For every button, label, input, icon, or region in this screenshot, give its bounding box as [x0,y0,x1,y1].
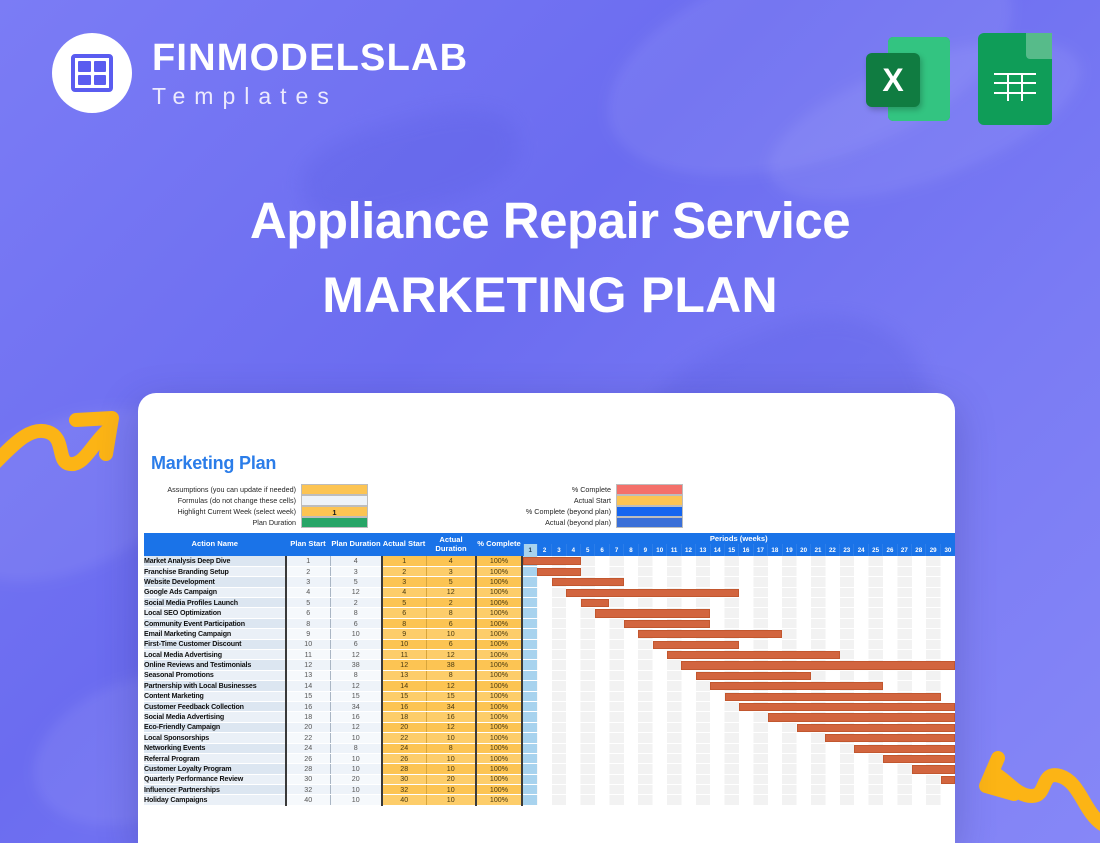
table-row[interactable]: Influencer Partnerships32103210100% [144,785,955,795]
gantt-bar[interactable] [710,682,883,690]
cell-plan-start[interactable]: 5 [286,598,330,608]
legend-item: Formulas (do not change these cells) [151,495,368,506]
cell-actual-duration[interactable]: 34 [426,701,476,711]
legend-label: Actual Start [476,495,616,506]
cell-actual-duration[interactable]: 10 [426,733,476,743]
gantt-bar-cell [522,795,955,805]
gantt-bar[interactable] [854,745,955,753]
week-header-15[interactable]: 15 [724,544,738,556]
table-row[interactable]: Local Sponsorships22102210100% [144,733,955,743]
table-row[interactable]: Referral Program26102610100% [144,753,955,763]
current-week-highlight [523,775,537,784]
cell-pct-complete[interactable]: 100% [476,795,522,805]
cell-plan-start[interactable]: 10 [286,639,330,649]
legend-left-column: Assumptions (you can update if needed)Fo… [151,484,368,528]
cell-actual-start[interactable]: 3 [382,577,426,587]
gantt-bar[interactable] [912,765,955,773]
cell-actual-start[interactable]: 15 [382,691,426,701]
cell-actual-duration[interactable]: 38 [426,660,476,670]
cell-plan-start[interactable]: 16 [286,701,330,711]
table-row[interactable]: Customer Loyalty Program28102810100% [144,764,955,774]
cell-plan-duration[interactable]: 10 [330,795,382,805]
cell-actual-duration[interactable]: 12 [426,587,476,597]
legend-swatch [301,495,368,506]
cell-action-name[interactable]: Seasonal Promotions [144,670,286,680]
cell-action-name[interactable]: Community Event Participation [144,618,286,628]
cell-plan-duration[interactable]: 5 [330,577,382,587]
cell-pct-complete[interactable]: 100% [476,660,522,670]
week-gridlines [523,640,955,649]
cell-pct-complete[interactable]: 100% [476,774,522,784]
cell-action-name[interactable]: Influencer Partnerships [144,785,286,795]
week-header-9[interactable]: 9 [638,544,652,556]
table-row[interactable]: Seasonal Promotions138138100% [144,670,955,680]
table-row[interactable]: Eco-Friendly Campaign20122012100% [144,722,955,732]
table-row[interactable]: Email Marketing Campaign910910100% [144,629,955,639]
cell-actual-duration[interactable]: 10 [426,795,476,805]
cell-plan-start[interactable]: 32 [286,785,330,795]
cell-plan-start[interactable]: 9 [286,629,330,639]
sheet-title: Marketing Plan [151,453,955,474]
cell-plan-start[interactable]: 2 [286,566,330,576]
current-week-highlight [523,608,537,617]
cell-plan-start[interactable]: 8 [286,618,330,628]
excel-x-glyph: X [866,53,920,107]
cell-actual-start[interactable]: 24 [382,743,426,753]
table-row[interactable]: Holiday Campaigns40104010100% [144,795,955,805]
cell-plan-start[interactable]: 26 [286,753,330,763]
current-week-highlight [523,567,537,576]
cell-actual-duration[interactable]: 10 [426,753,476,763]
gantt-bar-cell [522,608,955,618]
gantt-bar-cell [522,753,955,763]
week-header-5[interactable]: 5 [581,544,595,556]
cell-plan-duration[interactable]: 10 [330,733,382,743]
legend-swatch [616,517,683,528]
cell-plan-start[interactable]: 28 [286,764,330,774]
current-week-highlight [523,795,537,804]
cell-plan-duration[interactable]: 10 [330,785,382,795]
cell-action-name[interactable]: Partnership with Local Businesses [144,681,286,691]
cell-plan-duration[interactable]: 15 [330,691,382,701]
table-row[interactable]: Community Event Participation8686100% [144,618,955,628]
cell-actual-start[interactable]: 2 [382,566,426,576]
cell-actual-start[interactable]: 8 [382,618,426,628]
legend-item: % Complete [476,484,683,495]
week-header-7[interactable]: 7 [609,544,623,556]
cell-actual-duration[interactable]: 6 [426,618,476,628]
cell-plan-start[interactable]: 13 [286,670,330,680]
card-footer-band [138,809,955,843]
col-pct-complete[interactable]: % Complete [476,533,522,556]
gantt-bar[interactable] [523,557,581,565]
cell-actual-start[interactable]: 13 [382,670,426,680]
week-header-29[interactable]: 29 [926,544,940,556]
cell-actual-start[interactable]: 18 [382,712,426,722]
gantt-bar-cell [522,774,955,784]
gantt-bar[interactable] [653,641,739,649]
gantt-bar[interactable] [581,599,610,607]
legend-label: % Complete [476,484,616,495]
cell-action-name[interactable]: Local Media Advertising [144,650,286,660]
cell-actual-duration[interactable]: 20 [426,774,476,784]
week-header-24[interactable]: 24 [854,544,868,556]
table-row[interactable]: First-Time Customer Discount106106100% [144,639,955,649]
cell-action-name[interactable]: First-Time Customer Discount [144,639,286,649]
cell-plan-duration[interactable]: 3 [330,566,382,576]
cell-action-name[interactable]: Eco-Friendly Campaign [144,722,286,732]
cell-pct-complete[interactable]: 100% [476,650,522,660]
current-week-highlight [523,702,537,711]
cell-actual-duration[interactable]: 5 [426,577,476,587]
cell-actual-start[interactable]: 6 [382,608,426,618]
gantt-bar[interactable] [667,651,840,659]
week-header-3[interactable]: 3 [552,544,566,556]
cell-actual-start[interactable]: 30 [382,774,426,784]
cell-pct-complete[interactable]: 100% [476,598,522,608]
headline-line-1: Appliance Repair Service [0,192,1100,251]
cell-action-name[interactable]: Local Sponsorships [144,733,286,743]
col-plan-duration[interactable]: Plan Duration [330,533,382,556]
cell-plan-duration[interactable]: 4 [330,556,382,566]
gantt-bar[interactable] [681,661,955,669]
gantt-bar[interactable] [624,620,710,628]
cell-plan-start[interactable]: 20 [286,722,330,732]
week-header-16[interactable]: 16 [739,544,753,556]
legend-label: % Complete (beyond plan) [476,506,616,517]
gantt-bar-cell [522,577,955,587]
legend-item: Actual (beyond plan) [476,517,683,528]
cell-actual-duration[interactable]: 6 [426,639,476,649]
cell-plan-start[interactable]: 18 [286,712,330,722]
cell-action-name[interactable]: Online Reviews and Testimonials [144,660,286,670]
legend-item: Actual Start [476,495,683,506]
cell-actual-start[interactable]: 1 [382,556,426,566]
week-header-11[interactable]: 11 [667,544,681,556]
gantt-bar[interactable] [696,672,811,680]
week-header-container: 1234567891011121314151617181920212223242… [522,544,955,556]
legend-label: Assumptions (you can update if needed) [151,484,301,495]
cell-action-name[interactable]: Market Analysis Deep Dive [144,556,286,566]
squiggly-arrow-up-right-icon [0,404,122,490]
cell-plan-duration[interactable]: 12 [330,681,382,691]
week-header-10[interactable]: 10 [653,544,667,556]
current-week-highlight [523,692,537,701]
cell-actual-duration[interactable]: 4 [426,556,476,566]
week-gridlines [523,608,955,617]
table-row[interactable]: Website Development3535100% [144,577,955,587]
gantt-bar[interactable] [537,568,580,576]
gantt-bar[interactable] [566,589,739,597]
gantt-bar[interactable] [595,609,710,617]
cell-actual-duration[interactable]: 8 [426,743,476,753]
legend-item: % Complete (beyond plan) [476,506,683,517]
cell-action-name[interactable]: Local SEO Optimization [144,608,286,618]
google-sheets-icon[interactable] [978,33,1052,125]
week-header-2[interactable]: 2 [537,544,551,556]
gantt-bar-cell [522,660,955,670]
cell-actual-start[interactable]: 11 [382,650,426,660]
cell-plan-duration[interactable]: 2 [330,598,382,608]
cell-action-name[interactable]: Franchise Branding Setup [144,566,286,576]
table-row[interactable]: Online Reviews and Testimonials123812381… [144,660,955,670]
cell-actual-duration[interactable]: 8 [426,608,476,618]
week-header-22[interactable]: 22 [825,544,839,556]
grid-logo-icon [52,33,132,113]
cell-actual-start[interactable]: 16 [382,701,426,711]
table-row[interactable]: Market Analysis Deep Dive1414100% [144,556,955,566]
periods-header: Periods (weeks) [522,533,955,544]
current-week-highlight [523,577,537,586]
cell-actual-duration[interactable]: 10 [426,785,476,795]
cell-actual-duration[interactable]: 10 [426,629,476,639]
week-header-25[interactable]: 25 [868,544,882,556]
current-week-highlight [523,754,537,763]
cell-pct-complete[interactable]: 100% [476,608,522,618]
legend-item: Assumptions (you can update if needed) [151,484,368,495]
cell-plan-duration[interactable]: 34 [330,701,382,711]
gantt-bar-cell [522,670,955,680]
cell-action-name[interactable]: Social Media Advertising [144,712,286,722]
cell-plan-duration[interactable]: 10 [330,764,382,774]
gantt-bar-cell [522,650,955,660]
table-row[interactable]: Social Media Advertising18161816100% [144,712,955,722]
cell-pct-complete[interactable]: 100% [476,556,522,566]
cell-actual-duration[interactable]: 12 [426,650,476,660]
week-header-13[interactable]: 13 [696,544,710,556]
cell-plan-start[interactable]: 3 [286,577,330,587]
cell-plan-duration[interactable]: 12 [330,650,382,660]
cell-pct-complete[interactable]: 100% [476,722,522,732]
cell-pct-complete[interactable]: 100% [476,733,522,743]
marketing-plan-sheet: Marketing Plan Assumptions (you can upda… [144,453,955,806]
gantt-bar[interactable] [883,755,955,763]
gantt-bar[interactable] [941,776,955,784]
week-header-30[interactable]: 30 [940,544,955,556]
cell-action-name[interactable]: Quarterly Performance Review [144,774,286,784]
cell-actual-start[interactable]: 10 [382,639,426,649]
cell-pct-complete[interactable]: 100% [476,764,522,774]
cell-plan-start[interactable]: 22 [286,733,330,743]
cell-actual-duration[interactable]: 12 [426,681,476,691]
cell-plan-start[interactable]: 40 [286,795,330,805]
cell-plan-start[interactable]: 1 [286,556,330,566]
week-header-6[interactable]: 6 [595,544,609,556]
gantt-bar[interactable] [768,713,955,721]
week-header-18[interactable]: 18 [768,544,782,556]
table-row[interactable]: Networking Events248248100% [144,743,955,753]
gantt-bar-cell [522,639,955,649]
cell-plan-duration[interactable]: 8 [330,608,382,618]
cell-plan-start[interactable]: 12 [286,660,330,670]
current-week-highlight [523,588,537,597]
cell-plan-start[interactable]: 15 [286,691,330,701]
current-week-highlight [523,629,537,638]
cell-plan-duration[interactable]: 8 [330,670,382,680]
cell-plan-duration[interactable]: 38 [330,660,382,670]
legend: Assumptions (you can update if needed)Fo… [151,484,955,528]
cell-pct-complete[interactable]: 100% [476,681,522,691]
gantt-bar[interactable] [739,703,955,711]
table-row[interactable]: Quarterly Performance Review30203020100% [144,774,955,784]
cell-pct-complete[interactable]: 100% [476,577,522,587]
cell-action-name[interactable]: Customer Loyalty Program [144,764,286,774]
table-row[interactable]: Google Ads Campaign412412100% [144,587,955,597]
cell-plan-duration[interactable]: 20 [330,774,382,784]
cell-plan-duration[interactable]: 10 [330,753,382,763]
cell-actual-duration[interactable]: 15 [426,691,476,701]
cell-plan-duration[interactable]: 6 [330,618,382,628]
cell-plan-start[interactable]: 14 [286,681,330,691]
cell-actual-start[interactable]: 22 [382,733,426,743]
brand-logo[interactable]: FINMODELSLAB Templates [52,33,468,113]
table-row[interactable]: Content Marketing15151515100% [144,691,955,701]
week-header-17[interactable]: 17 [753,544,767,556]
current-week-highlight [523,619,537,628]
headline-line-2: MARKETING PLAN [0,267,1100,325]
gantt-bar[interactable] [725,693,941,701]
gantt-bar-cell [522,556,955,566]
cell-actual-duration[interactable]: 3 [426,566,476,576]
week-gridlines [523,764,955,773]
cell-action-name[interactable]: Customer Feedback Collection [144,701,286,711]
week-header-27[interactable]: 27 [897,544,911,556]
cell-action-name[interactable]: Social Media Profiles Launch [144,598,286,608]
legend-right-column: % CompleteActual Start% Complete (beyond… [476,484,683,528]
cell-pct-complete[interactable]: 100% [476,691,522,701]
table-row[interactable]: Social Media Profiles Launch5252100% [144,598,955,608]
cell-actual-start[interactable]: 14 [382,681,426,691]
brand-tagline: Templates [152,85,468,108]
week-header-4[interactable]: 4 [566,544,580,556]
cell-pct-complete[interactable]: 100% [476,566,522,576]
cell-action-name[interactable]: Email Marketing Campaign [144,629,286,639]
gantt-bar[interactable] [825,734,955,742]
table-row[interactable]: Partnership with Local Businesses1412141… [144,681,955,691]
legend-swatch [616,484,683,495]
cell-pct-complete[interactable]: 100% [476,743,522,753]
gantt-bar-cell [522,764,955,774]
week-header-19[interactable]: 19 [782,544,796,556]
week-header-21[interactable]: 21 [811,544,825,556]
col-actual-duration[interactable]: Actual Duration [426,533,476,556]
cell-action-name[interactable]: Website Development [144,577,286,587]
week-gridlines [523,619,955,628]
week-number-row: 1234567891011121314151617181920212223242… [523,544,955,556]
cell-plan-duration[interactable]: 10 [330,629,382,639]
week-gridlines [523,775,955,784]
week-header-20[interactable]: 20 [796,544,810,556]
cell-plan-duration[interactable]: 8 [330,743,382,753]
cell-plan-duration[interactable]: 6 [330,639,382,649]
week-gridlines [523,795,955,804]
current-week-highlight [523,681,537,690]
spreadsheet-card: Marketing Plan Assumptions (you can upda… [138,393,955,843]
cell-pct-complete[interactable]: 100% [476,587,522,597]
week-header-8[interactable]: 8 [624,544,638,556]
cell-actual-start[interactable]: 26 [382,753,426,763]
current-week-highlight [523,744,537,753]
week-header-23[interactable]: 23 [840,544,854,556]
cell-plan-start[interactable]: 6 [286,608,330,618]
cell-actual-start[interactable]: 20 [382,722,426,732]
cell-pct-complete[interactable]: 100% [476,753,522,763]
week-header-28[interactable]: 28 [912,544,926,556]
col-action-name[interactable]: Action Name [144,533,286,556]
week-header-1[interactable]: 1 [523,544,537,556]
cell-actual-duration[interactable]: 12 [426,722,476,732]
cell-actual-start[interactable]: 9 [382,629,426,639]
cell-actual-start[interactable]: 40 [382,795,426,805]
gantt-bar[interactable] [638,630,782,638]
cell-pct-complete[interactable]: 100% [476,618,522,628]
cell-actual-start[interactable]: 32 [382,785,426,795]
gantt-bar-cell [522,785,955,795]
cell-plan-duration[interactable]: 16 [330,712,382,722]
gantt-bar-cell [522,701,955,711]
legend-label: Highlight Current Week (select week) [151,506,301,517]
cell-plan-start[interactable]: 30 [286,774,330,784]
table-row[interactable]: Local Media Advertising11121112100% [144,650,955,660]
cell-action-name[interactable]: Content Marketing [144,691,286,701]
cell-action-name[interactable]: Holiday Campaigns [144,795,286,805]
excel-icon[interactable]: X [862,33,954,125]
cell-plan-start[interactable]: 4 [286,587,330,597]
cell-actual-duration[interactable]: 8 [426,670,476,680]
cell-pct-complete[interactable]: 100% [476,785,522,795]
cell-actual-start[interactable]: 4 [382,587,426,597]
table-row[interactable]: Franchise Branding Setup2323100% [144,566,955,576]
current-week-highlight [523,712,537,721]
cell-action-name[interactable]: Referral Program [144,753,286,763]
current-week-highlight [523,650,537,659]
cell-actual-duration[interactable]: 10 [426,764,476,774]
week-gridlines [523,556,955,566]
cell-plan-duration[interactable]: 12 [330,722,382,732]
week-gridlines [523,785,955,794]
cell-pct-complete[interactable]: 100% [476,670,522,680]
cell-action-name[interactable]: Networking Events [144,743,286,753]
cell-action-name[interactable]: Google Ads Campaign [144,587,286,597]
cell-actual-start[interactable]: 12 [382,660,426,670]
cell-pct-complete[interactable]: 100% [476,712,522,722]
cell-plan-start[interactable]: 24 [286,743,330,753]
table-row[interactable]: Local SEO Optimization6868100% [144,608,955,618]
week-header-26[interactable]: 26 [883,544,897,556]
gantt-bar-cell [522,618,955,628]
cell-plan-duration[interactable]: 12 [330,587,382,597]
week-header-12[interactable]: 12 [681,544,695,556]
gantt-bar-cell [522,587,955,597]
cell-actual-start[interactable]: 28 [382,764,426,774]
cell-plan-start[interactable]: 11 [286,650,330,660]
col-plan-start[interactable]: Plan Start [286,533,330,556]
col-actual-start[interactable]: Actual Start [382,533,426,556]
gantt-bar[interactable] [797,724,955,732]
week-header-14[interactable]: 14 [710,544,724,556]
gantt-bar-cell [522,722,955,732]
cell-pct-complete[interactable]: 100% [476,629,522,639]
cell-actual-duration[interactable]: 16 [426,712,476,722]
legend-swatch[interactable]: 1 [301,506,368,517]
cell-pct-complete[interactable]: 100% [476,701,522,711]
cell-pct-complete[interactable]: 100% [476,639,522,649]
cell-actual-start[interactable]: 5 [382,598,426,608]
cell-actual-duration[interactable]: 2 [426,598,476,608]
gantt-bar[interactable] [552,578,624,586]
table-row[interactable]: Customer Feedback Collection16341634100% [144,701,955,711]
file-format-icons: X [862,33,1052,125]
